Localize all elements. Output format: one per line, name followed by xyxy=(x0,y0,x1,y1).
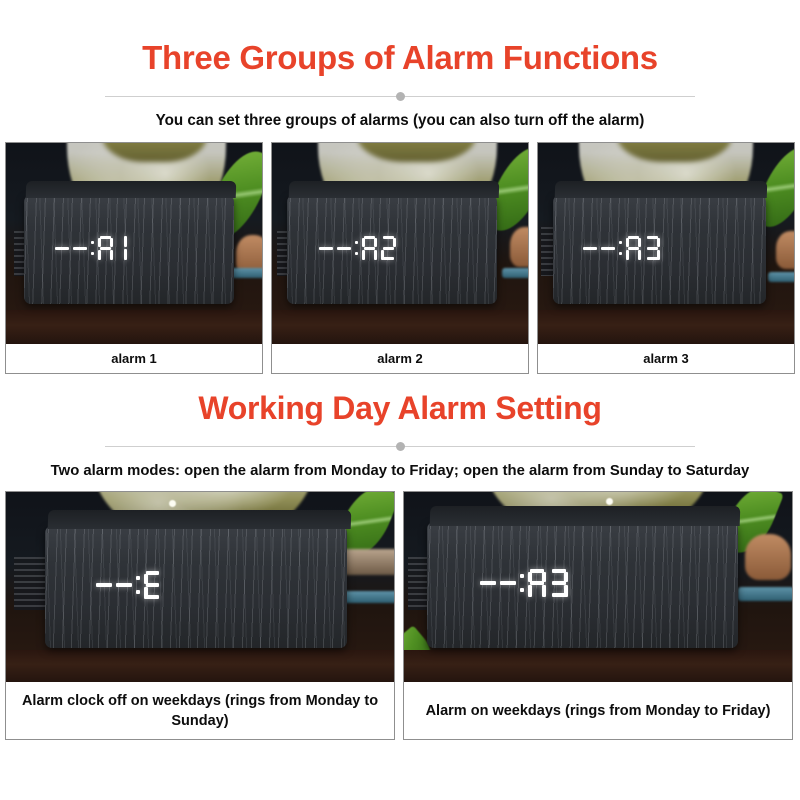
hand xyxy=(776,231,794,269)
led-dash xyxy=(55,247,69,250)
clock-top-edge xyxy=(430,506,741,526)
led-dash xyxy=(319,247,333,250)
clock-photo xyxy=(6,143,262,344)
led-dash xyxy=(337,247,351,250)
panel-caption: alarm 3 xyxy=(538,344,794,373)
photo-grid-alarm-groups: alarm 1 xyxy=(0,142,800,374)
alarm-clock-body xyxy=(553,195,765,304)
photo-panel[interactable]: alarm 2 xyxy=(271,142,529,374)
book xyxy=(340,549,394,575)
clock-photo xyxy=(272,143,528,344)
photo-panel[interactable]: alarm 1 xyxy=(5,142,263,374)
highlight-icon xyxy=(169,500,176,507)
led-display xyxy=(583,236,660,260)
panel-caption: Alarm clock off on weekdays (rings from … xyxy=(6,682,394,739)
divider-dot-icon xyxy=(396,92,405,101)
hand xyxy=(510,227,528,267)
desk-surface xyxy=(272,310,528,344)
clock-top-edge xyxy=(289,181,500,198)
led-char-a xyxy=(626,236,641,260)
panel-caption: alarm 1 xyxy=(6,344,262,373)
desk-surface xyxy=(6,650,394,682)
vase-water xyxy=(617,143,732,162)
led-display xyxy=(96,571,161,599)
led-colon xyxy=(619,237,622,259)
panel-caption: alarm 2 xyxy=(272,344,528,373)
clock-top-edge xyxy=(555,181,768,198)
clock-top-edge xyxy=(47,510,350,529)
led-dash xyxy=(73,247,87,250)
led-char-1 xyxy=(117,236,132,260)
alarm-clock-body xyxy=(427,522,737,647)
photo-panel[interactable]: Alarm on weekdays (rings from Monday to … xyxy=(403,491,793,740)
led-char-2 xyxy=(381,236,396,260)
section-divider xyxy=(0,438,800,454)
led-dash xyxy=(116,583,132,587)
photo-panel[interactable]: Alarm clock off on weekdays (rings from … xyxy=(5,491,395,740)
teal-object xyxy=(768,272,794,282)
section-divider xyxy=(0,88,800,104)
highlight-icon xyxy=(606,498,613,505)
led-char-a xyxy=(98,236,113,260)
led-dash xyxy=(96,583,112,587)
led-char-a xyxy=(362,236,377,260)
alarm-clock-body xyxy=(24,195,234,304)
desk-surface xyxy=(6,310,262,344)
clock-photo xyxy=(538,143,794,344)
alarm-clock-body xyxy=(45,526,348,648)
led-colon xyxy=(136,572,140,598)
section-alarm-groups: Three Groups of Alarm Functions You can … xyxy=(0,0,800,374)
section-title: Working Day Alarm Setting xyxy=(0,388,800,428)
panel-caption: Alarm on weekdays (rings from Monday to … xyxy=(404,682,792,739)
desk-surface xyxy=(404,650,792,682)
section-subtitle: You can set three groups of alarms (you … xyxy=(20,110,780,132)
led-char-e xyxy=(144,571,161,599)
teal-object xyxy=(502,268,528,278)
section-title: Three Groups of Alarm Functions xyxy=(0,38,800,78)
led-display xyxy=(55,236,132,260)
led-display xyxy=(319,236,396,260)
led-dash xyxy=(480,581,496,585)
teal-object xyxy=(340,591,394,603)
section-subtitle: Two alarm modes: open the alarm from Mon… xyxy=(4,460,796,482)
section-working-day: Working Day Alarm Setting Two alarm mode… xyxy=(0,374,800,740)
infographic-page: Three Groups of Alarm Functions You can … xyxy=(0,0,800,800)
led-colon xyxy=(520,570,524,596)
photo-panel[interactable]: alarm 3 xyxy=(537,142,795,374)
led-colon xyxy=(355,237,358,259)
speaker-grille xyxy=(14,557,49,610)
led-char-3 xyxy=(645,236,660,260)
hand xyxy=(745,534,791,580)
led-char-3 xyxy=(550,569,568,597)
clock-top-edge xyxy=(26,181,237,198)
divider-dot-icon xyxy=(396,442,405,451)
clock-photo xyxy=(404,492,792,682)
led-dash xyxy=(583,247,597,250)
led-dash xyxy=(500,581,516,585)
led-dash xyxy=(601,247,615,250)
vase-water xyxy=(102,143,207,162)
photo-grid-working-day: Alarm clock off on weekdays (rings from … xyxy=(0,491,800,740)
desk-surface xyxy=(538,310,794,344)
clock-photo xyxy=(6,492,394,682)
vase-water xyxy=(357,143,475,162)
led-display xyxy=(480,569,568,597)
alarm-clock-body xyxy=(287,195,497,304)
teal-object xyxy=(738,587,792,601)
led-char-a xyxy=(528,569,546,597)
led-colon xyxy=(91,237,94,259)
